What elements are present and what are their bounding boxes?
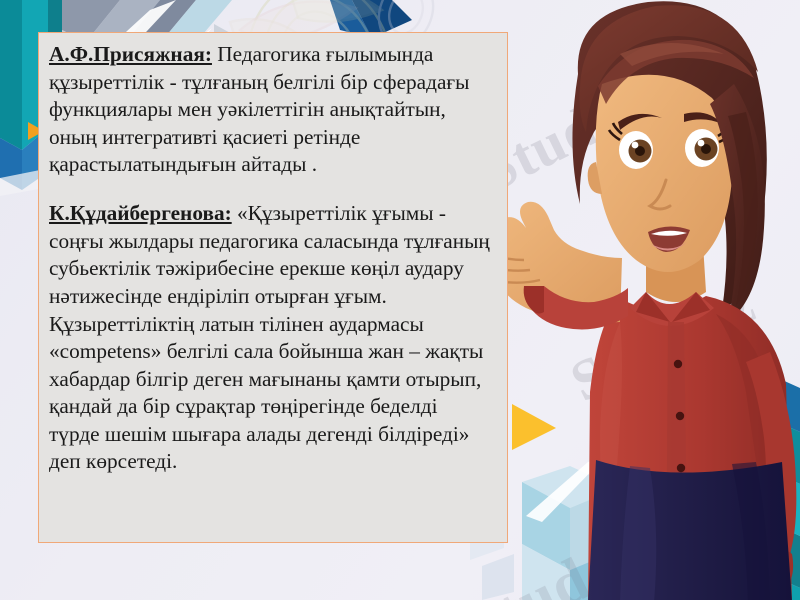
paragraph-1-author: А.Ф.Присяжная: [49, 42, 212, 66]
woman-teacher-illustration [470, 0, 800, 600]
paragraph-2-author: К.Құдайбергенова: [49, 201, 232, 225]
presentation-slide: Stud.kz Stud.kz Stud.kz Stud.kz Stud.kz [0, 0, 800, 600]
paragraph-2: К.Құдайбергенова: «Құзыреттілік ұғымы - … [49, 200, 493, 476]
paragraph-1: А.Ф.Присяжная: Педагогика ғылымында құзы… [49, 41, 493, 179]
shirt-button [677, 464, 685, 472]
cuff-left [524, 286, 544, 314]
content-text-box: А.Ф.Присяжная: Педагогика ғылымында құзы… [38, 32, 508, 543]
shirt-button [676, 412, 684, 420]
shirt-button [674, 360, 682, 368]
paragraph-2-body: «Құзыреттілік ұғымы - соңғы жылдары педа… [49, 201, 490, 473]
